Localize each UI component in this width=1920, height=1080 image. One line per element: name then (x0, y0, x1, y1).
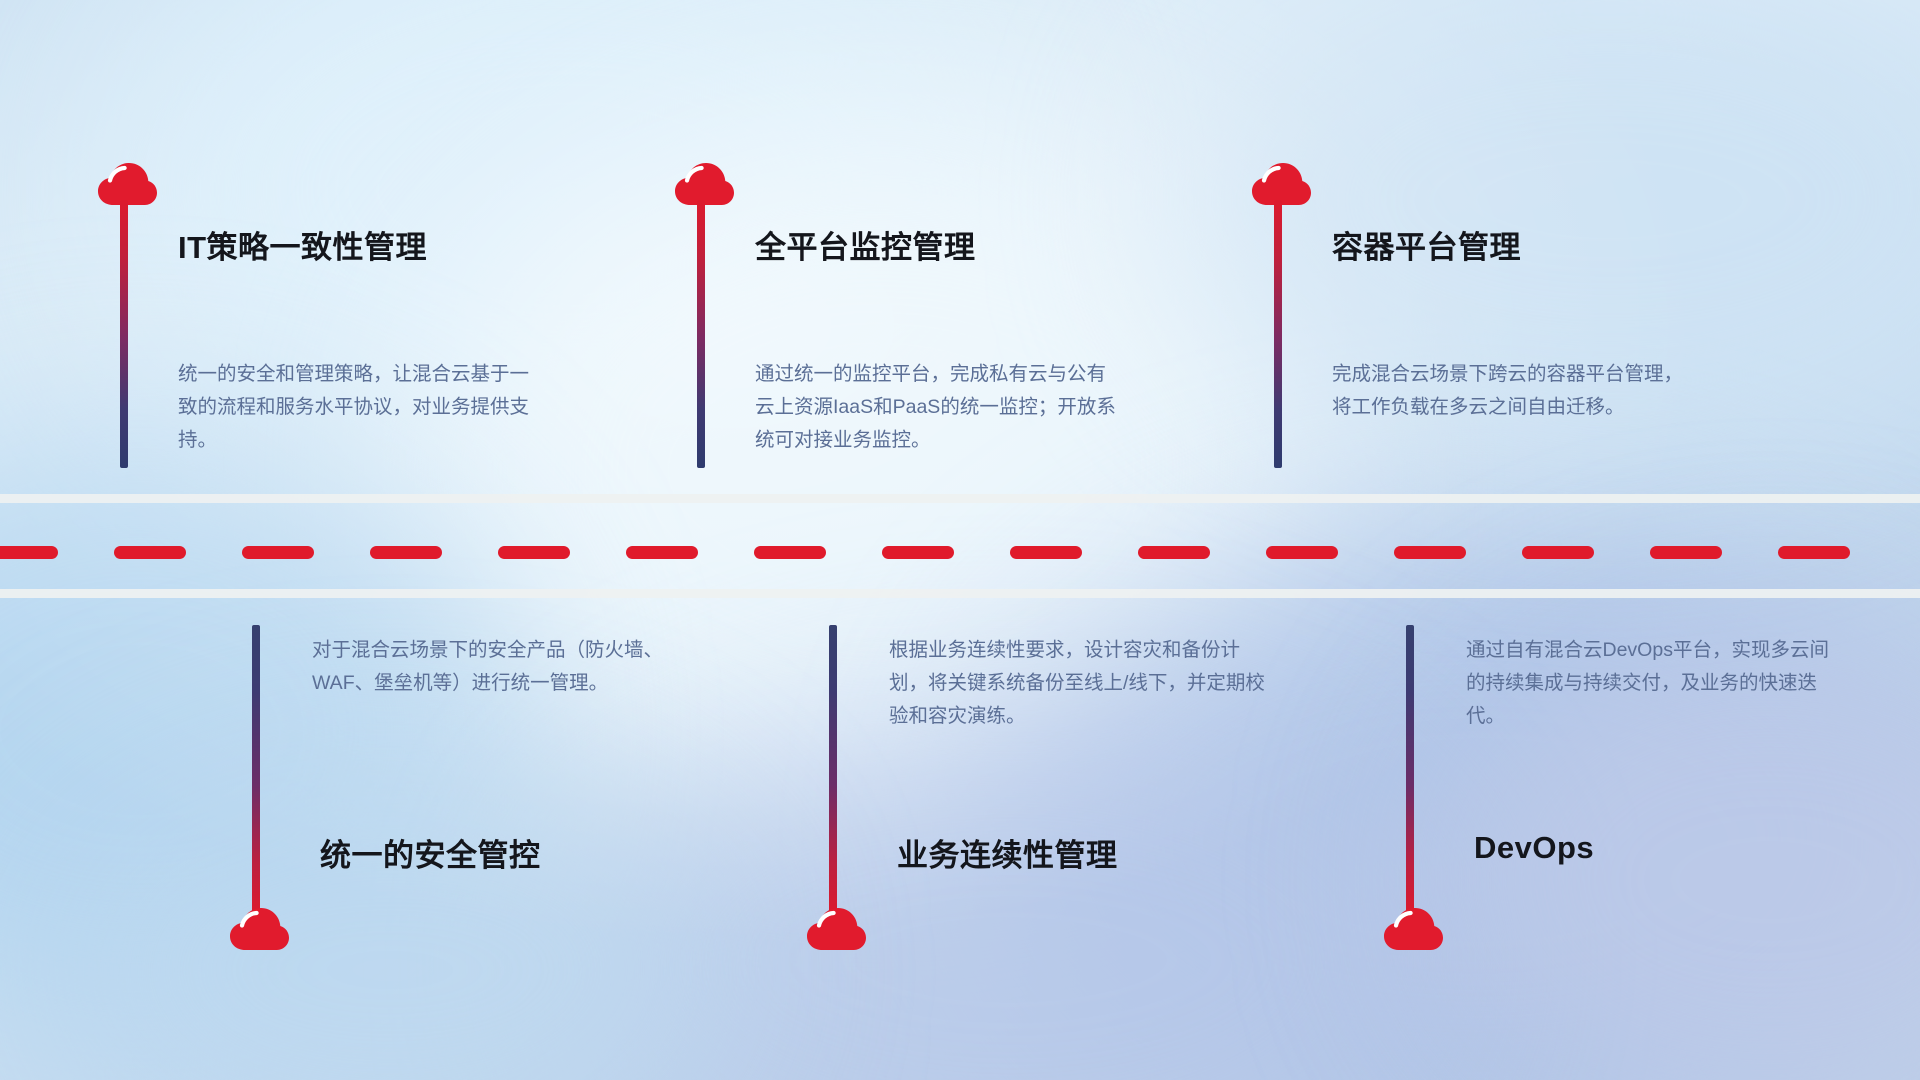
road-dash (1522, 546, 1594, 559)
road-dash (370, 546, 442, 559)
road-dash (882, 546, 954, 559)
bottom-item-2-body: 根据业务连续性要求，设计容灾和备份计划，将关键系统备份至线上/线下，并定期校验和… (889, 634, 1269, 733)
cloud-icon (96, 160, 158, 206)
stem-connector (1406, 625, 1414, 915)
road-dash (626, 546, 698, 559)
stem-connector (829, 625, 837, 915)
road-dash (1266, 546, 1338, 559)
top-item-3-title: 容器平台管理 (1332, 222, 1521, 267)
top-item-3-body: 完成混合云场景下跨云的容器平台管理，将工作负载在多云之间自由迁移。 (1332, 358, 1702, 424)
stem-connector (120, 200, 128, 468)
bottom-item-3-title: DevOps (1474, 830, 1594, 866)
top-item-2-body: 通过统一的监控平台，完成私有云与公有云上资源IaaS和PaaS的统一监控；开放系… (755, 358, 1125, 457)
road-dash (754, 546, 826, 559)
road-dash (114, 546, 186, 559)
top-item-2-title: 全平台监控管理 (755, 222, 976, 267)
road-edge-line-bottom (0, 589, 1920, 598)
top-item-1-title: IT策略一致性管理 (178, 222, 427, 267)
cloud-icon (1250, 160, 1312, 206)
cloud-icon (805, 905, 867, 951)
road-dash (1394, 546, 1466, 559)
road-dash (1778, 546, 1850, 559)
road-dash (242, 546, 314, 559)
cloud-icon (673, 160, 735, 206)
bottom-item-2-title: 业务连续性管理 (897, 830, 1118, 875)
stem-connector (252, 625, 260, 915)
road-edge-line-top (0, 494, 1920, 503)
bottom-item-3-body: 通过自有混合云DevOps平台，实现多云间的持续集成与持续交付，及业务的快速迭代… (1466, 634, 1846, 733)
road-dash (1138, 546, 1210, 559)
bottom-item-1-title: 统一的安全管控 (320, 830, 541, 875)
road-dash-line (0, 546, 1920, 559)
stem-connector (1274, 200, 1282, 468)
road-dash (1650, 546, 1722, 559)
stem-connector (697, 200, 705, 468)
road-dash (1010, 546, 1082, 559)
road-dash (498, 546, 570, 559)
top-item-1-body: 统一的安全和管理策略，让混合云基于一致的流程和服务水平协议，对业务提供支持。 (178, 358, 548, 457)
bottom-item-1-body: 对于混合云场景下的安全产品（防火墙、WAF、堡垒机等）进行统一管理。 (312, 634, 692, 700)
cloud-icon (228, 905, 290, 951)
road-dash (0, 546, 58, 559)
infographic-canvas: IT策略一致性管理 统一的安全和管理策略，让混合云基于一致的流程和服务水平协议，… (0, 0, 1920, 1080)
cloud-icon (1382, 905, 1444, 951)
